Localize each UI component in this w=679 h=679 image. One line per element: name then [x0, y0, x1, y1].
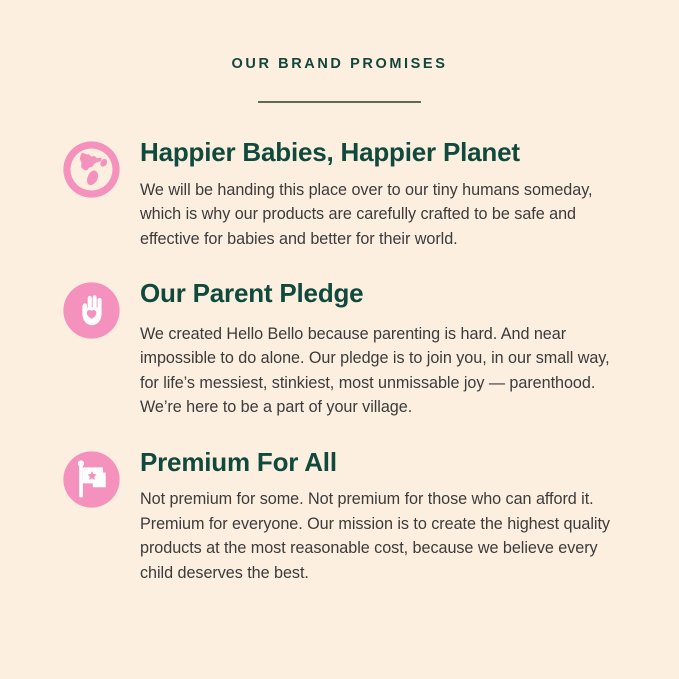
promise-heading: Our Parent Pledge: [140, 279, 639, 308]
promise-content: Premium For All Not premium for some. No…: [140, 448, 639, 586]
promise-heading: Happier Babies, Happier Planet: [140, 138, 639, 167]
promise-content: Our Parent Pledge We created Hello Bello…: [140, 279, 639, 420]
globe-icon: [62, 140, 121, 199]
page-header: OUR BRAND PROMISES: [0, 0, 679, 103]
promise-description: We will be handing this place over to ou…: [140, 178, 625, 252]
promise-item: Happier Babies, Happier Planet We will b…: [62, 138, 639, 252]
flag-star-icon: [62, 450, 121, 509]
promise-item: Our Parent Pledge We created Hello Bello…: [62, 279, 639, 420]
promise-list: Happier Babies, Happier Planet We will b…: [0, 138, 679, 586]
promise-description: Not premium for some. Not premium for th…: [140, 487, 625, 586]
promise-item: Premium For All Not premium for some. No…: [62, 448, 639, 586]
page-title: OUR BRAND PROMISES: [0, 57, 679, 72]
promise-content: Happier Babies, Happier Planet We will b…: [140, 138, 639, 252]
promise-heading: Premium For All: [140, 448, 639, 477]
title-divider: [258, 101, 421, 103]
brand-promises-page: OUR BRAND PROMISES: [0, 0, 679, 679]
hand-heart-icon: [62, 281, 121, 340]
promise-description: We created Hello Bello because parenting…: [140, 322, 625, 421]
